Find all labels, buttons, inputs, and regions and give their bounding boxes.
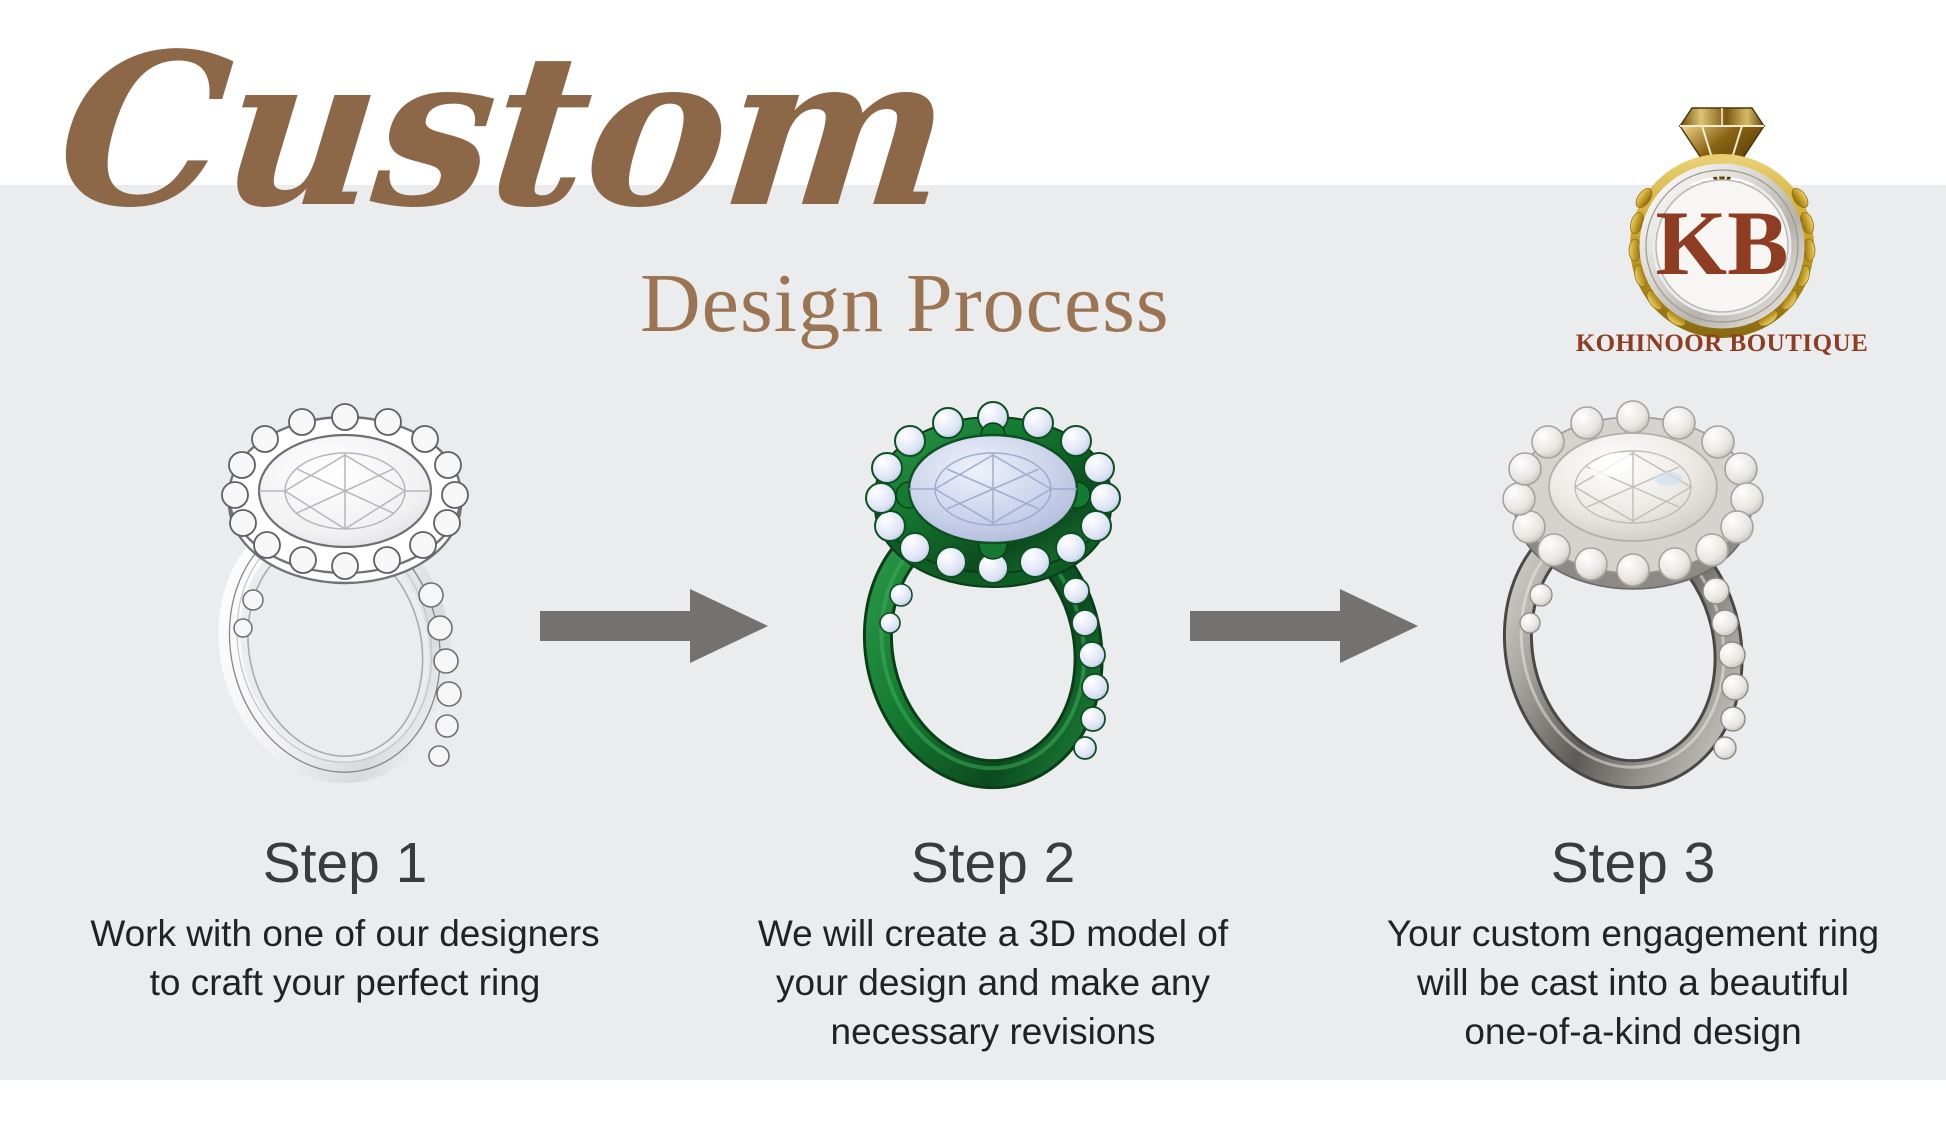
logo-mark-icon: KB	[1552, 78, 1892, 338]
page-subtitle: Design Process	[640, 258, 1330, 350]
step-title: Step 3	[1323, 831, 1943, 895]
page-title-script: Custom	[46, 6, 974, 276]
brand-logo: KB KOHINOOR BOUTIQUE	[1552, 78, 1892, 378]
step-title: Step 2	[683, 831, 1303, 895]
bottom-white-band	[0, 1080, 1946, 1142]
step-description: We will create a 3D model of your design…	[683, 909, 1303, 1056]
step-card-1: Step 1 Work with one of our designers to…	[35, 395, 655, 1055]
logo-wordmark: KOHINOOR BOUTIQUE	[1552, 330, 1892, 358]
custom-design-process-banner: Custom Design Process	[0, 0, 1946, 1142]
ring-sketch-wireframe	[35, 395, 655, 795]
step-card-2: Step 2 We will create a 3D model of your…	[683, 395, 1303, 1055]
ring-finished-photo	[1323, 395, 1943, 795]
steps-row: Step 1 Work with one of our designers to…	[0, 395, 1946, 1055]
step-card-3: Step 3 Your custom engagement ring will …	[1323, 395, 1943, 1055]
step-title: Step 1	[35, 831, 655, 895]
ring-3d-cad-model	[683, 395, 1303, 795]
step-description: Work with one of our designers to craft …	[35, 909, 655, 1007]
step-description: Your custom engagement ring will be cast…	[1323, 909, 1943, 1056]
logo-monogram: KB	[1656, 192, 1789, 294]
